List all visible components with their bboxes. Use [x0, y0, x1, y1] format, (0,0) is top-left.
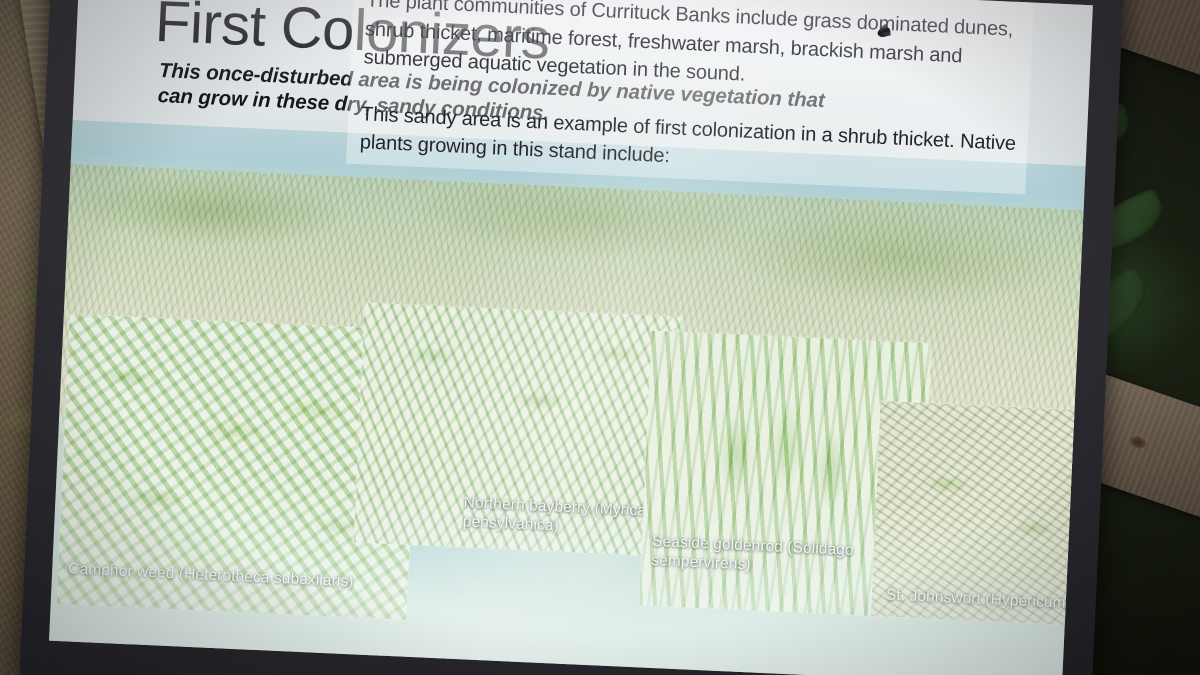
sign-face: First Colonizers This once-disturbed are… — [49, 0, 1093, 675]
body-paragraph-1: The plant communities of Currituck Banks… — [363, 0, 1046, 103]
plant-photo-northern-bayberry: Northern bayberry (Myrica pensylvanica) — [354, 303, 683, 557]
interpretive-sign: First Colonizers This once-disturbed are… — [19, 0, 1124, 675]
body-text: The plant communities of Currituck Banks… — [359, 0, 1046, 188]
plant-photo-st-johnswort: St. Johnswort (Hypericum spp.) — [871, 401, 1093, 628]
screenshot-root: First Colonizers This once-disturbed are… — [0, 0, 1200, 675]
